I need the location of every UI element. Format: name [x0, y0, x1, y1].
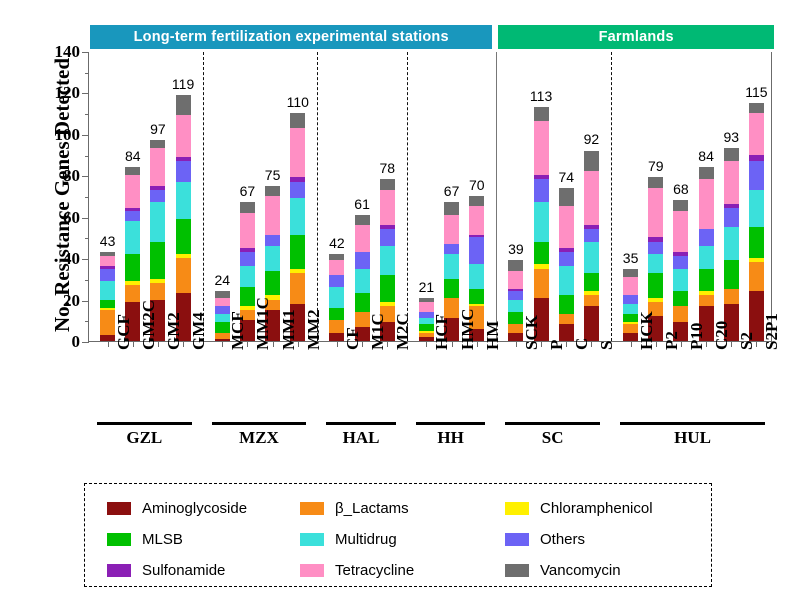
bar-value-label: 74	[558, 169, 574, 185]
legend-swatch-multidrug	[300, 533, 324, 546]
bar-segment-tetracycline	[469, 206, 484, 235]
bar-value-label: 21	[419, 279, 435, 295]
bar-S2P1[interactable]: 115	[749, 103, 764, 341]
bar-segment-multidrug	[355, 269, 370, 294]
bar-segment-others	[749, 161, 764, 190]
group-underline-MZX	[212, 422, 307, 425]
legend-label: Tetracycline	[335, 562, 414, 579]
y-tick-mark-minor	[85, 238, 89, 239]
x-tick-label-MM1C: MM1C	[253, 297, 273, 350]
bar-HCK[interactable]: 35	[623, 269, 638, 342]
bar-segment-others	[648, 242, 663, 254]
group-label-GZL: GZL	[126, 428, 162, 448]
x-tick-label-SCK: SCK	[522, 315, 542, 350]
group-band-stations: Long-term fertilization experimental sta…	[90, 25, 492, 49]
bar-segment-tetracycline	[150, 148, 165, 185]
bar-segment-tetracycline	[508, 271, 523, 290]
bar-segment-vancomycin	[265, 186, 280, 196]
bar-segment-others	[724, 208, 739, 227]
bar-segment-mlsb	[559, 295, 574, 314]
group-label-HAL: HAL	[343, 428, 380, 448]
y-tick-mark	[82, 176, 89, 177]
bar-value-label: 42	[329, 235, 345, 251]
x-tick-label-C20: C20	[712, 321, 732, 350]
bar-segment-mlsb	[724, 260, 739, 289]
bar-segment-tetracycline	[355, 225, 370, 252]
group-separator	[611, 52, 612, 341]
bar-MM2[interactable]: 110	[290, 113, 305, 341]
bar-segment-vancomycin	[125, 167, 140, 175]
legend-label: Chloramphenicol	[540, 500, 653, 517]
legend-label: Aminoglycoside	[142, 500, 247, 517]
bar-segment-multidrug	[749, 190, 764, 227]
bar-segment-multidrug	[100, 281, 115, 300]
legend-swatch-aminoglycoside	[107, 502, 131, 515]
x-tick-mark	[426, 341, 427, 347]
bar-segment-multidrug	[559, 266, 574, 295]
y-tick-mark	[82, 301, 89, 302]
bar-segment-multidrug	[673, 269, 688, 292]
bar-segment-multidrug	[125, 221, 140, 254]
bar-value-label: 35	[623, 250, 639, 266]
group-label-SC: SC	[542, 428, 564, 448]
bar-value-label: 92	[584, 131, 600, 147]
x-tick-mark	[108, 341, 109, 347]
x-tick-label-GM2: GM2	[164, 312, 184, 350]
bar-value-label: 110	[287, 94, 309, 110]
bar-segment-mlsb	[648, 273, 663, 298]
x-tick-label-HCK: HCK	[637, 311, 657, 350]
x-tick-label-S2: S2	[737, 332, 757, 350]
bar-S2[interactable]: 93	[724, 148, 739, 341]
bar-segment-multidrug	[724, 227, 739, 260]
bar-segment-others	[100, 269, 115, 281]
bar-value-label: 43	[100, 233, 116, 249]
group-separator	[496, 52, 497, 341]
legend-label: MLSB	[142, 531, 183, 548]
bar-segment--lactams	[749, 262, 764, 291]
y-tick-mark	[82, 135, 89, 136]
bar-segment-others	[534, 179, 549, 202]
bar-segment-tetracycline	[724, 161, 739, 205]
bar-segment--lactams	[559, 314, 574, 324]
bar-segment-vancomycin	[355, 215, 370, 225]
legend-label: β_Lactams	[335, 500, 409, 517]
legend: Aminoglycoside β_Lactams Chloramphenicol…	[84, 483, 712, 587]
bar-segment-multidrug	[176, 182, 191, 219]
bar-segment-tetracycline	[419, 302, 434, 312]
bar-segment-others	[380, 229, 395, 246]
x-tick-mark	[337, 341, 338, 347]
bar-segment-multidrug	[240, 266, 255, 287]
y-tick-mark	[82, 342, 89, 343]
bar-segment-others	[150, 190, 165, 202]
bar-value-label: 93	[723, 129, 739, 145]
bar-value-label: 84	[125, 148, 141, 164]
legend-item-aminoglycoside: Aminoglycoside	[85, 500, 300, 517]
bar-segment-mlsb	[469, 289, 484, 304]
x-tick-label-MM1: MM1	[279, 309, 299, 350]
bar-segment--lactams	[623, 324, 638, 332]
group-label-MZX: MZX	[239, 428, 279, 448]
bar-GM4[interactable]: 119	[176, 95, 191, 342]
x-tick-label-HCF: HCF	[432, 314, 452, 350]
legend-item-sulfonamide: Sulfonamide	[85, 562, 300, 579]
bar-segment-mlsb	[290, 235, 305, 268]
x-tick-label-S: S	[597, 341, 617, 350]
bar-segment-multidrug	[469, 264, 484, 289]
x-tick-mark	[222, 341, 223, 347]
bar-segment-tetracycline	[648, 188, 663, 238]
bar-segment-multidrug	[508, 300, 523, 312]
bar-segment-tetracycline	[329, 260, 344, 275]
bar-value-label: 68	[673, 181, 689, 197]
legend-item-multidrug: Multidrug	[300, 531, 505, 548]
y-tick-mark	[82, 52, 89, 53]
bar-segment-tetracycline	[215, 298, 230, 306]
bar-segment-vancomycin	[150, 140, 165, 148]
x-tick-mark	[631, 341, 632, 347]
bar-P[interactable]: 113	[534, 107, 549, 341]
bar-segment-tetracycline	[380, 190, 395, 225]
bar-segment-others	[508, 291, 523, 299]
bar-segment-tetracycline	[176, 115, 191, 156]
bar-segment-mlsb	[699, 269, 714, 292]
bar-segment-tetracycline	[584, 171, 599, 225]
bar-segment-mlsb	[444, 279, 459, 298]
x-tick-label-MM2: MM2	[304, 309, 324, 350]
bar-segment-vancomycin	[699, 167, 714, 179]
bar-segment-mlsb	[100, 300, 115, 308]
bar-segment-vancomycin	[534, 107, 549, 122]
bar-segment-vancomycin	[240, 202, 255, 212]
bar-segment-mlsb	[380, 275, 395, 302]
bar-value-label: 79	[648, 158, 664, 174]
bar-segment-tetracycline	[699, 179, 714, 229]
legend-item-vancomycin: Vancomycin	[505, 562, 710, 579]
group-underline-GZL	[97, 422, 192, 425]
bar-segment-multidrug	[444, 254, 459, 279]
bar-segment-others	[290, 182, 305, 199]
bar-segment-others	[265, 235, 280, 245]
group-label-HUL: HUL	[674, 428, 711, 448]
bar-segment--lactams	[176, 258, 191, 293]
bar-value-label: 119	[172, 76, 194, 92]
bar-segment-mlsb	[534, 242, 549, 265]
bar-value-label: 84	[698, 148, 714, 164]
legend-label: Others	[540, 531, 585, 548]
bar-value-label: 61	[354, 196, 370, 212]
bar-segment--lactams	[724, 289, 739, 304]
legend-item-mlsb: MLSB	[85, 531, 300, 548]
bar-segment-others	[673, 256, 688, 268]
bar-segment-mlsb	[150, 242, 165, 279]
x-tick-label-S2P1: S2P1	[762, 313, 782, 350]
y-axis-title: No. Resistance Genes Detected	[45, 15, 79, 375]
y-tick-mark-minor	[85, 73, 89, 74]
legend-swatch-chloramphenicol	[505, 502, 529, 515]
group-separator	[203, 52, 204, 341]
y-tick-mark-minor	[85, 197, 89, 198]
group-underline-SC	[505, 422, 600, 425]
bar-C20[interactable]: 84	[699, 167, 714, 341]
y-tick-mark-minor	[85, 321, 89, 322]
bar-segment-tetracycline	[125, 175, 140, 208]
bar-segment-others	[559, 252, 574, 267]
bar-segment-others	[240, 252, 255, 267]
bar-segment-multidrug	[150, 202, 165, 241]
bar-P10[interactable]: 68	[673, 200, 688, 341]
bar-segment-others	[329, 275, 344, 287]
bar-segment-tetracycline	[534, 121, 549, 175]
x-tick-label-P10: P10	[687, 323, 707, 350]
plot-area: 0204060801001201404384971192467751104261…	[88, 52, 772, 342]
bar-segment-tetracycline	[290, 128, 305, 178]
bar-segment-tetracycline	[240, 213, 255, 248]
group-separator	[317, 52, 318, 341]
y-tick-mark-minor	[85, 114, 89, 115]
y-tick-mark	[82, 259, 89, 260]
bar-segment--lactams	[534, 269, 549, 298]
x-tick-label-MCF: MCF	[228, 311, 248, 350]
bar-segment-multidrug	[584, 242, 599, 273]
bar-segment-vancomycin	[559, 188, 574, 207]
group-underline-HUL	[620, 422, 765, 425]
bar-segment-mlsb	[265, 271, 280, 296]
bar-segment-aminoglycoside	[623, 333, 638, 341]
x-tick-label-GM2C: GM2C	[139, 300, 159, 350]
legend-swatch-beta-lactams	[300, 502, 324, 515]
bar-segment-vancomycin	[648, 177, 663, 187]
legend-row: Aminoglycoside β_Lactams Chloramphenicol	[85, 493, 711, 524]
bar-segment-vancomycin	[444, 202, 459, 214]
bar-segment-others	[355, 252, 370, 269]
bar-value-label: 67	[240, 183, 256, 199]
bar-value-label: 39	[508, 241, 524, 257]
y-tick-mark-minor	[85, 156, 89, 157]
x-tick-mark	[516, 341, 517, 347]
x-tick-label-M2C: M2C	[393, 313, 413, 350]
bar-segment-tetracycline	[559, 206, 574, 247]
y-tick-mark	[82, 218, 89, 219]
legend-swatch-mlsb	[107, 533, 131, 546]
bar-segment-vancomycin	[290, 113, 305, 128]
legend-row: MLSB Multidrug Others	[85, 524, 711, 555]
bar-segment-multidrug	[329, 287, 344, 308]
legend-swatch-tetracycline	[300, 564, 324, 577]
bar-segment--lactams	[699, 295, 714, 305]
group-separator	[407, 52, 408, 341]
bar-segment-others	[125, 211, 140, 221]
legend-swatch-sulfonamide	[107, 564, 131, 577]
bar-segment-tetracycline	[623, 277, 638, 296]
x-tick-label-HMC: HMC	[458, 308, 478, 350]
bar-GCF[interactable]: 43	[100, 252, 115, 341]
bar-value-label: 75	[265, 167, 281, 183]
bar-C[interactable]: 74	[559, 188, 574, 341]
bar-segment-vancomycin	[749, 103, 764, 113]
bar-segment--lactams	[673, 306, 688, 323]
bar-segment-others	[469, 237, 484, 264]
bar-segment--lactams	[290, 273, 305, 304]
bar-segment-vancomycin	[380, 179, 395, 189]
bar-segment-others	[623, 295, 638, 303]
x-tick-label-GM4: GM4	[189, 312, 209, 350]
bar-segment-tetracycline	[673, 211, 688, 252]
bar-segment-mlsb	[749, 227, 764, 258]
bar-segment-others	[584, 229, 599, 241]
bar-segment-vancomycin	[673, 200, 688, 210]
bar-segment-tetracycline	[749, 113, 764, 154]
bar-segment-mlsb	[355, 293, 370, 312]
x-tick-label-P2: P2	[662, 331, 682, 350]
legend-label: Vancomycin	[540, 562, 621, 579]
bar-segment--lactams	[150, 283, 165, 300]
bar-segment-mlsb	[125, 254, 140, 281]
bar-value-label: 24	[214, 272, 230, 288]
x-tick-label-GCF: GCF	[114, 314, 134, 350]
bar-segment-multidrug	[380, 246, 395, 275]
bar-value-label: 97	[150, 121, 166, 137]
bar-segment-multidrug	[534, 202, 549, 241]
bar-segment-mlsb	[623, 314, 638, 322]
bar-value-label: 70	[469, 177, 485, 193]
x-tick-label-M1C: M1C	[368, 313, 388, 350]
x-tick-label-C: C	[572, 338, 592, 350]
bar-segment-others	[176, 161, 191, 182]
legend-label: Sulfonamide	[142, 562, 225, 579]
bar-segment-multidrug	[265, 246, 280, 271]
bar-segment-others	[699, 229, 714, 246]
x-tick-label-P: P	[547, 340, 567, 350]
group-label-HH: HH	[437, 428, 463, 448]
bar-value-label: 115	[745, 84, 767, 100]
group-underline-HH	[416, 422, 486, 425]
x-tick-label-HM: HM	[483, 321, 503, 350]
bar-segment-multidrug	[290, 198, 305, 235]
bar-segment--lactams	[584, 295, 599, 305]
y-tick-mark	[82, 93, 89, 94]
group-band-farmlands: Farmlands	[498, 25, 774, 49]
bar-segment-mlsb	[176, 219, 191, 254]
y-tick-mark-minor	[85, 280, 89, 281]
bar-segment-tetracycline	[100, 256, 115, 266]
bar-segment-multidrug	[699, 246, 714, 269]
legend-item-others: Others	[505, 531, 710, 548]
bar-segment-multidrug	[648, 254, 663, 273]
bar-S[interactable]: 92	[584, 150, 599, 341]
chart-page: No. Resistance Genes Detected 0204060801…	[0, 0, 796, 603]
legend-item-beta-lactams: β_Lactams	[300, 500, 505, 517]
bar-segment-vancomycin	[176, 95, 191, 116]
legend-swatch-others	[505, 533, 529, 546]
bar-segment-vancomycin	[623, 269, 638, 277]
bar-value-label: 78	[379, 160, 395, 176]
bar-segment-tetracycline	[265, 196, 280, 235]
bar-segment-mlsb	[673, 291, 688, 306]
bar-segment-others	[444, 244, 459, 254]
bar-segment-multidrug	[623, 304, 638, 314]
bar-segment-aminoglycoside	[584, 306, 599, 341]
bar-segment-vancomycin	[724, 148, 739, 160]
bar-segment-vancomycin	[508, 260, 523, 270]
legend-label: Multidrug	[335, 531, 397, 548]
bar-segment-mlsb	[584, 273, 599, 292]
x-tick-label-CF: CF	[343, 327, 363, 350]
bar-segment-tetracycline	[444, 215, 459, 244]
legend-row: Sulfonamide Tetracycline Vancomycin	[85, 555, 711, 586]
bar-segment-vancomycin	[584, 151, 599, 172]
bar-segment-mlsb	[329, 308, 344, 320]
bar-value-label: 113	[530, 88, 552, 104]
legend-item-tetracycline: Tetracycline	[300, 562, 505, 579]
bar-value-label: 67	[444, 183, 460, 199]
bar-segment-vancomycin	[469, 196, 484, 206]
group-underline-HAL	[326, 422, 396, 425]
bar-segment--lactams	[100, 310, 115, 335]
legend-swatch-vancomycin	[505, 564, 529, 577]
legend-item-chloramphenicol: Chloramphenicol	[505, 500, 710, 517]
